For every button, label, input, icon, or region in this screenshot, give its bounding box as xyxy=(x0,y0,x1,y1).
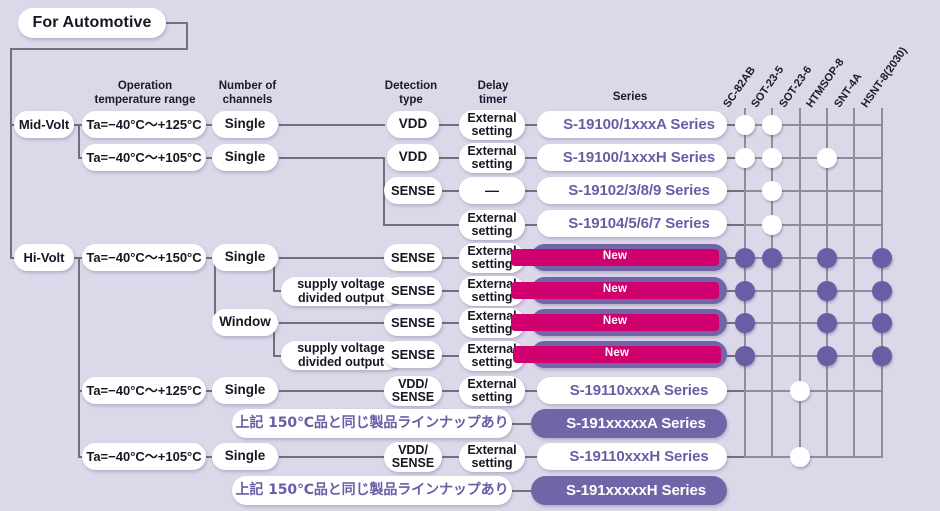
temp-label: Ta=−40°C～+150°C xyxy=(82,251,206,265)
connector-delay-series-9 xyxy=(523,390,537,392)
node-temp-mid-105[interactable]: Ta=−40°C～+105°C xyxy=(82,144,206,171)
matrix-dot-s-19100-1xxxh-sot-23-5 xyxy=(762,148,782,168)
matrix-dot-s-191exxxxs-sc-82ab xyxy=(735,313,755,333)
series-pill-s-19104-5-6-7[interactable]: S-19104/5/6/7 Series xyxy=(537,210,727,237)
badge-new: New xyxy=(513,346,721,363)
matrix-dot-s-191l-nxxxxs-htmsop-8 xyxy=(817,346,837,366)
matrix-dot-s-19117-9xxxs-htmsop-8 xyxy=(817,281,837,301)
detection-label: SENSE xyxy=(384,316,442,330)
root-label: For Automotive xyxy=(18,15,166,32)
badge-new: New xyxy=(511,314,719,331)
node-channel-single-3[interactable]: Single xyxy=(212,244,278,271)
header-detection-type: Detection type xyxy=(378,80,444,107)
detection-label: SENSE xyxy=(384,348,442,362)
matrix-dot-s-191exxxxs-htmsop-8 xyxy=(817,313,837,333)
temp-label: Ta=−40°C～+105°C xyxy=(82,151,206,165)
detection-label: VDD xyxy=(387,150,439,164)
channel-label: Single xyxy=(212,150,278,164)
matrix-dot-s-19113-5xxxs-hsnt-8 xyxy=(872,248,892,268)
connector-root-to-trunk xyxy=(10,48,188,50)
node-detection-row-8[interactable]: SENSE xyxy=(384,341,442,368)
matrix-dot-s-19104-5-6-7-sot-23-5 xyxy=(762,215,782,235)
delay-label: External setting xyxy=(459,444,525,471)
channel-label: Single xyxy=(212,250,278,264)
detection-label: SENSE xyxy=(384,284,442,298)
connector-delay-series-3 xyxy=(523,190,537,192)
header-series: Series xyxy=(575,91,685,105)
grid-row-8 xyxy=(744,355,883,357)
connector-ch5-to-detection xyxy=(279,322,385,324)
detection-label: VDD/ SENSE xyxy=(384,444,442,471)
detection-label: VDD xyxy=(387,117,439,131)
matrix-dot-s-19100-1xxxh-sc-82ab xyxy=(735,148,755,168)
node-channel-single-5[interactable]: Single xyxy=(212,443,278,470)
series-pill-s-191xxxxxa[interactable]: S-191xxxxxA Series xyxy=(531,409,727,438)
node-temp-hi-105[interactable]: Ta=−40°C～+105°C xyxy=(82,443,206,470)
node-temp-hi-125[interactable]: Ta=−40°C～+125°C xyxy=(82,377,206,404)
series-pill-s-19102-3-8-9[interactable]: S-19102/3/8/9 Series xyxy=(537,177,727,204)
node-delay-row-2[interactable]: External setting xyxy=(459,143,525,173)
series-label: S-19110xxxA Series xyxy=(551,383,727,399)
matrix-dot-s-19117-9xxxs-hsnt-8 xyxy=(872,281,892,301)
connector-ch3-to-detection xyxy=(279,257,385,259)
matrix-dot-s-19102-3-8-9-sot-23-5 xyxy=(762,181,782,201)
node-delay-row-9[interactable]: External setting xyxy=(459,376,525,406)
note-label: 上記 150℃品と同じ製品ラインナップあり xyxy=(232,483,512,498)
node-detection-row-6[interactable]: SENSE xyxy=(384,277,442,304)
voltage-label: Mid-Volt xyxy=(14,118,74,132)
series-label: S-19104/5/6/7 Series xyxy=(551,216,727,232)
series-label: S-191xxxxxA Series xyxy=(545,416,727,432)
connector-midvolt-vert xyxy=(78,124,80,158)
connector-ch2-to-detection xyxy=(279,157,385,159)
connector-ch8-to-detection xyxy=(279,456,385,458)
connector-root-down xyxy=(186,22,188,50)
node-detection-row-3[interactable]: SENSE xyxy=(384,177,442,204)
series-pill-s-19100-1xxxa[interactable]: S-19100/1xxxA Series xyxy=(537,111,727,138)
node-temp-mid-125[interactable]: Ta=−40°C～+125°C xyxy=(82,111,206,138)
node-detection-row-1[interactable]: VDD xyxy=(387,111,439,138)
grid-col-snt-4a xyxy=(853,108,855,456)
node-delay-row-3[interactable]: — xyxy=(459,177,525,204)
connector-delay-series-11 xyxy=(523,456,537,458)
header-number-of-channels: Number of channels xyxy=(200,80,295,107)
channel-label: Single xyxy=(212,383,278,397)
matrix-dot-s-191l-nxxxxs-hsnt-8 xyxy=(872,346,892,366)
grid-col-sot-23-6 xyxy=(799,108,801,456)
series-pill-s-19110xxxa[interactable]: S-19110xxxA Series xyxy=(537,377,727,404)
series-pill-s-191l-nxxxxs[interactable]: S-191L/NxxxxS Series New xyxy=(531,341,727,368)
series-label: S-19100/1xxxH Series xyxy=(551,150,727,166)
grid-row-9 xyxy=(744,390,883,392)
header-operation-temperature-range: Operation temperature range xyxy=(80,80,210,107)
badge-new: New xyxy=(511,282,719,299)
node-detection-row-9[interactable]: VDD/ SENSE xyxy=(384,376,442,406)
connector-main-trunk xyxy=(10,48,12,258)
matrix-dot-s-19100-1xxxa-sot-23-5 xyxy=(762,115,782,135)
header-delay-timer: Delay timer xyxy=(460,80,526,107)
series-pill-s-19110xxxh[interactable]: S-19110xxxH Series xyxy=(537,443,727,470)
node-channel-single-2[interactable]: Single xyxy=(212,144,278,171)
channel-label: Single xyxy=(212,117,278,131)
temp-label: Ta=−40°C～+105°C xyxy=(82,450,206,464)
node-channel-window[interactable]: Window xyxy=(212,309,278,336)
grid-row-6 xyxy=(744,290,883,292)
connector-det-delay-1 xyxy=(437,124,459,126)
connector-ch1-to-detection xyxy=(279,124,385,126)
channel-label: Window xyxy=(212,315,278,329)
node-delay-row-11[interactable]: External setting xyxy=(459,442,525,472)
channel-label: supply voltage divided output xyxy=(281,342,401,369)
grid-row-11 xyxy=(744,456,883,458)
connector-det-delay-2 xyxy=(437,157,459,159)
matrix-dot-s-19113-5xxxs-sot-23-5 xyxy=(762,248,782,268)
badge-new: New xyxy=(511,249,719,266)
delay-label: External setting xyxy=(459,378,525,405)
node-channel-single-4[interactable]: Single xyxy=(212,377,278,404)
node-channel-divided-output-2[interactable]: supply voltage divided output xyxy=(281,341,401,370)
node-voltage-mid-volt[interactable]: Mid-Volt xyxy=(14,111,74,138)
root-node-for-automotive[interactable]: For Automotive xyxy=(18,8,166,38)
node-delay-row-4[interactable]: External setting xyxy=(459,210,525,240)
matrix-dot-s-19100-1xxxa-sc-82ab xyxy=(735,115,755,135)
detection-label: SENSE xyxy=(384,184,442,198)
matrix-dot-s-191l-nxxxxs-sc-82ab xyxy=(735,346,755,366)
delay-label: — xyxy=(459,183,525,198)
note-label: 上記 150℃品と同じ製品ラインナップあり xyxy=(232,416,512,431)
series-label: S-19100/1xxxA Series xyxy=(551,117,727,133)
channel-label: Single xyxy=(212,449,278,463)
matrix-dot-s-19110xxxh-sot-23-6 xyxy=(790,447,810,467)
series-label: S-19102/3/8/9 Series xyxy=(551,183,727,199)
voltage-label: Hi-Volt xyxy=(14,251,74,265)
series-pill-s-19117-9xxxs[interactable]: S-19117/9xxxS Series New xyxy=(531,277,727,304)
matrix-dot-s-19100-1xxxh-htmsop-8 xyxy=(817,148,837,168)
matrix-dot-s-19117-9xxxs-sc-82ab xyxy=(735,281,755,301)
matrix-dot-s-19110xxxa-sot-23-6 xyxy=(790,381,810,401)
node-channel-divided-output-1[interactable]: supply voltage divided output xyxy=(281,277,401,306)
delay-label: External setting xyxy=(459,145,525,172)
connector-delay-series-2 xyxy=(523,157,537,159)
package-header-hsnt-8-2030: HSNT-8(2030) xyxy=(859,45,910,110)
node-voltage-hi-volt[interactable]: Hi-Volt xyxy=(14,244,74,271)
series-label: S-19110xxxH Series xyxy=(551,449,727,465)
temp-label: Ta=−40°C～+125°C xyxy=(82,384,206,398)
matrix-dot-s-19113-5xxxs-sc-82ab xyxy=(735,248,755,268)
connector-delay-series-4 xyxy=(523,224,537,226)
node-detection-row-7[interactable]: SENSE xyxy=(384,309,442,336)
matrix-dot-s-191exxxxs-hsnt-8 xyxy=(872,313,892,333)
series-pill-s-19100-1xxxh[interactable]: S-19100/1xxxH Series xyxy=(537,144,727,171)
node-detection-row-2[interactable]: VDD xyxy=(387,144,439,171)
connector-row4-delay xyxy=(383,224,459,226)
temp-label: Ta=−40°C～+125°C xyxy=(82,118,206,132)
node-channel-single-1[interactable]: Single xyxy=(212,111,278,138)
delay-label: External setting xyxy=(459,212,525,239)
series-pill-s-191exxxxs[interactable]: S-191ExxxxS Series New xyxy=(531,309,727,336)
connector-ch7-to-detection xyxy=(279,390,385,392)
node-detection-row-11[interactable]: VDD/ SENSE xyxy=(384,442,442,472)
detection-label: VDD/ SENSE xyxy=(384,378,442,405)
delay-label: External setting xyxy=(459,112,525,139)
node-delay-row-1[interactable]: External setting xyxy=(459,110,525,140)
connector-hivolt-vert xyxy=(78,257,80,457)
note-same-lineup-a: 上記 150℃品と同じ製品ラインナップあり xyxy=(232,409,512,438)
channel-label: supply voltage divided output xyxy=(281,278,401,305)
node-detection-row-5[interactable]: SENSE xyxy=(384,244,442,271)
grid-row-7 xyxy=(744,322,883,324)
matrix-dot-s-19113-5xxxs-htmsop-8 xyxy=(817,248,837,268)
series-pill-s-191xxxxxh[interactable]: S-191xxxxxH Series xyxy=(531,476,727,505)
note-same-lineup-h: 上記 150℃品と同じ製品ラインナップあり xyxy=(232,476,512,505)
series-label: S-191xxxxxH Series xyxy=(545,483,727,499)
connector-delay-series-1 xyxy=(523,124,537,126)
node-temp-hi-150[interactable]: Ta=−40°C～+150°C xyxy=(82,244,206,271)
detection-label: SENSE xyxy=(384,251,442,265)
series-pill-s-19113-5xxxs[interactable]: S-19113/5xxxS Series New xyxy=(531,244,727,271)
